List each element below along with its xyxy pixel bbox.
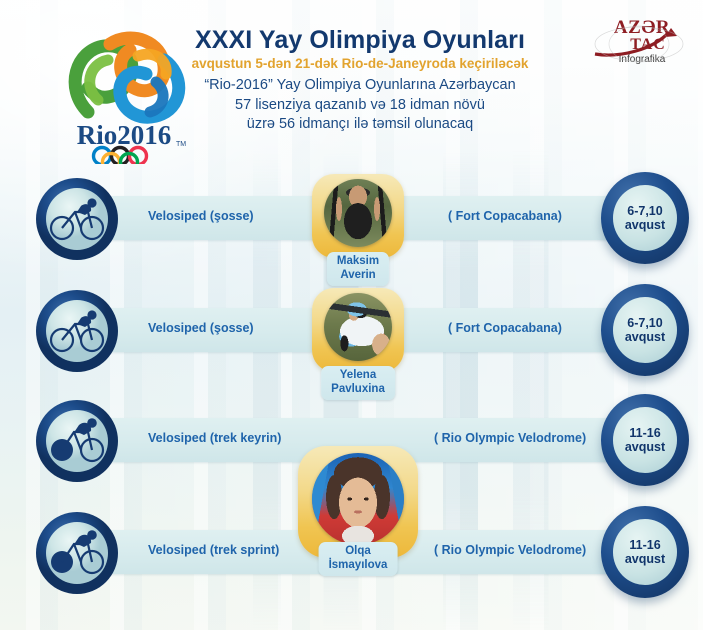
intro-line-3: üzrə 56 idmançı ilə təmsil olunacaq	[140, 115, 580, 135]
date-month: avqust	[625, 218, 665, 233]
date-month: avqust	[625, 552, 665, 567]
date-badge-core: 6-7,10 avqust	[613, 185, 677, 251]
date-badge: 6-7,10 avqust	[601, 172, 689, 264]
cyclist-track-icon	[34, 510, 120, 596]
date-range: 6-7,10	[627, 316, 662, 331]
infographic-canvas: Rio2016 TM XXXI Yay Olimpiya Oyunları av…	[0, 0, 703, 630]
intro-line-1: “Rio-2016” Yay Olimpiya Oyunlarına Azərb…	[140, 76, 580, 96]
sport-label: Velosiped (şosse)	[148, 321, 254, 335]
date-badge: 11-16 avqust	[601, 394, 689, 486]
athlete-name-plate: Maksim Averin	[327, 252, 389, 286]
venue-label: ( Rio Olympic Velodrome)	[434, 543, 586, 557]
azertac-swoosh-icon	[591, 24, 687, 64]
athlete-frame	[312, 174, 404, 258]
date-badge-core: 6-7,10 avqust	[613, 297, 677, 363]
cyclist-track-icon	[34, 398, 120, 484]
date-range: 11-16	[629, 426, 660, 441]
date-month: avqust	[625, 330, 665, 345]
intro-line-2: 57 lisenziya qazanıb və 18 idman növü	[140, 96, 580, 116]
athlete-first-name: Olqa	[329, 545, 388, 559]
date-badge-core: 11-16 avqust	[613, 519, 677, 585]
sport-label: Velosiped (trek sprint)	[148, 543, 279, 557]
intro-paragraph: “Rio-2016” Yay Olimpiya Oyunlarına Azərb…	[140, 76, 580, 135]
athlete-card: Maksim Averin	[312, 174, 404, 258]
athlete-first-name: Yelena	[331, 369, 385, 383]
header: Rio2016 TM XXXI Yay Olimpiya Oyunları av…	[0, 0, 703, 160]
athlete-name-plate: Olqa İsmayılova	[319, 542, 398, 576]
date-badge: 6-7,10 avqust	[601, 284, 689, 376]
athlete-name-plate: Yelena Pavluxina	[321, 366, 395, 400]
date-badge-core: 11-16 avqust	[613, 407, 677, 473]
athlete-last-name: İsmayılova	[329, 559, 388, 573]
athlete-photo-yelena-pavluxina	[324, 293, 392, 361]
athlete-first-name: Maksim	[337, 255, 379, 269]
date-month: avqust	[625, 440, 665, 455]
athlete-card: Olqa İsmayılova	[298, 446, 418, 558]
venue-label: ( Rio Olympic Velodrome)	[434, 431, 586, 445]
athlete-frame	[312, 288, 404, 372]
venue-label: ( Fort Copacabana)	[448, 321, 562, 335]
date-range: 11-16	[629, 538, 660, 553]
page-subtitle: avqustun 5-dən 21-dək Rio-de-Janeyroda k…	[150, 56, 570, 71]
date-range: 6-7,10	[627, 204, 662, 219]
sport-label: Velosiped (trek keyrin)	[148, 431, 281, 445]
athlete-card: Yelena Pavluxina	[312, 288, 404, 372]
sport-label: Velosiped (şosse)	[148, 209, 254, 223]
rio-trademark: TM	[176, 141, 186, 148]
page-title: XXXI Yay Olimpiya Oyunları	[150, 26, 570, 55]
cyclist-road-icon	[34, 288, 120, 374]
azertac-logo: AZƏR TAC Infografika	[593, 18, 691, 74]
cyclist-road-icon	[34, 176, 120, 262]
athlete-last-name: Averin	[337, 269, 379, 283]
athlete-photo-olqa-ismayilova	[312, 453, 404, 545]
venue-label: ( Fort Copacabana)	[448, 209, 562, 223]
athlete-photo-maksim-averin	[324, 179, 392, 247]
athlete-last-name: Pavluxina	[331, 383, 385, 397]
date-badge: 11-16 avqust	[601, 506, 689, 598]
